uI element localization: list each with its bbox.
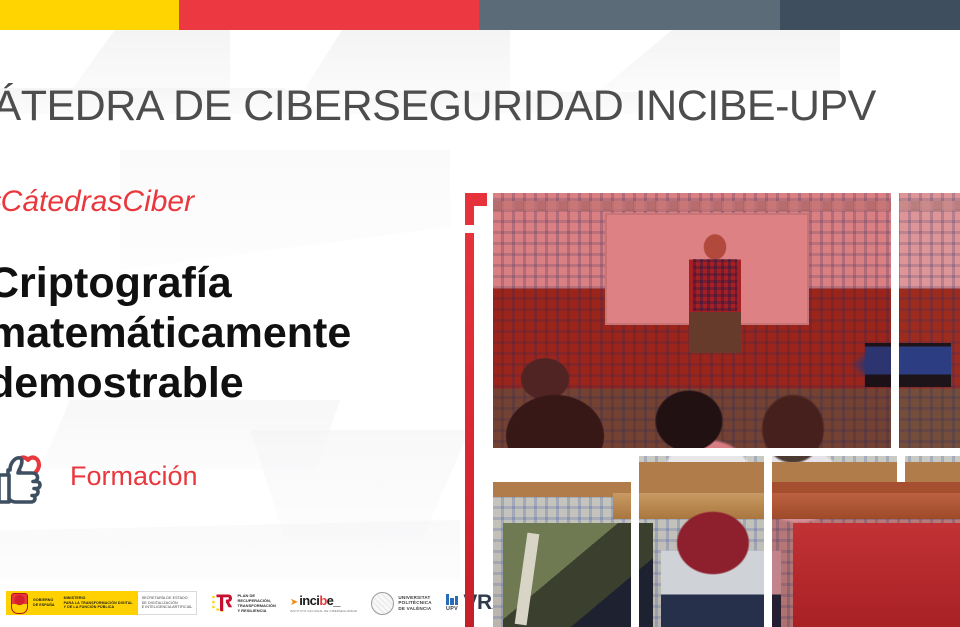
vrain-mark-icon: UPV [446, 594, 459, 612]
headline-line-2: matemáticamente [0, 308, 458, 358]
incibe-b: b [319, 593, 326, 608]
gob-line-1: GOBIERNO [33, 598, 53, 602]
headline: Criptografía matemáticamente demostrable [0, 258, 458, 408]
photo-tile [899, 193, 960, 448]
classroom-photo-grid [493, 193, 960, 627]
headline-line-1: Criptografía [0, 258, 458, 308]
vrain-bars-icon [446, 594, 459, 605]
prtr-text: PLAN DE RECUPERACIÓN, TRANSFORMACIÓN Y R… [237, 593, 275, 613]
gob-line-2: DE ESPAÑA [33, 603, 55, 607]
classroom-photo [493, 482, 631, 627]
category-label: Formación [70, 461, 198, 492]
incibe-subtitle: INSTITUTO NACIONAL DE CIBERSEGURIDAD [290, 609, 358, 613]
color-segment-yellow [0, 0, 179, 30]
top-color-bar [0, 0, 960, 30]
upv-seal-icon [371, 592, 394, 615]
classroom-photo [899, 193, 960, 448]
gob-line-6: SECRETARÍA DE ESTADO [142, 596, 188, 600]
prtr-mark-icon [211, 592, 233, 614]
photo-tile [639, 482, 764, 627]
upv-line-2: POLITÈCNICA [398, 600, 431, 605]
incibe-in: in [299, 593, 309, 608]
photo-tile [493, 193, 891, 448]
incibe-wordmark: ➤ in ci b e _ [290, 593, 340, 608]
thumbs-up-heart-icon [0, 448, 50, 504]
upv-line-3: DE VALÈNCIA [398, 606, 431, 611]
color-segment-slate [479, 0, 780, 30]
gob-secretaria-block: SECRETARÍA DE ESTADO DE DIGITALIZACIÓN E… [138, 591, 198, 615]
photo-tile [772, 482, 960, 627]
bracket-vertical [465, 193, 474, 225]
gob-line-5: Y DE LA FUNCIÓN PÚBLICA [64, 605, 115, 609]
bg-polygon [0, 520, 460, 580]
logo-gobierno-de-espana: GOBIERNO DE ESPAÑA MINISTERIO PARA LA TR… [6, 591, 197, 615]
logo-strip: GOBIERNO DE ESPAÑA MINISTERIO PARA LA TR… [6, 591, 527, 615]
red-vertical-rule [465, 233, 474, 627]
logo-incibe: ➤ in ci b e _ INSTITUTO NACIONAL DE CIBE… [290, 593, 358, 613]
secretaria-text: SECRETARÍA DE ESTADO DE DIGITALIZACIÓN E… [142, 596, 193, 610]
color-segment-red [179, 0, 479, 30]
gob-line-8: E INTELIGENCIA ARTIFICIAL [142, 605, 193, 609]
ministerio-text: MINISTERIO PARA LA TRANSFORMACIÓN DIGITA… [64, 596, 133, 610]
spain-coat-of-arms-icon [11, 593, 28, 614]
upv-university-text: UNIVERSITAT POLITÈCNICA DE VALÈNCIA [398, 595, 431, 611]
gob-line-7: DE DIGITALIZACIÓN [142, 601, 178, 605]
gob-crest-block: GOBIERNO DE ESPAÑA MINISTERIO PARA LA TR… [6, 591, 138, 615]
category-row: Formación [0, 448, 198, 504]
color-segment-dark-slate [780, 0, 960, 30]
bg-polygon [250, 430, 470, 540]
vrain-upv-label: UPV [446, 606, 458, 612]
prtr-line-4: Y RESILIENCIA [237, 608, 266, 613]
incibe-tail: _ [333, 593, 340, 608]
classroom-photo [772, 482, 960, 627]
gob-line-3: MINISTERIO [64, 596, 86, 600]
classroom-photo [639, 482, 764, 627]
page-title: CÁTEDRA DE CIBERSEGURIDAD INCIBE-UPV [0, 82, 822, 131]
photo-tile [493, 482, 631, 627]
headline-line-3: demostrable [0, 358, 458, 408]
logo-plan-recuperacion: PLAN DE RECUPERACIÓN, TRANSFORMACIÓN Y R… [211, 592, 275, 614]
red-corner-bracket [465, 193, 487, 225]
hashtag-label: #CátedrasCiber [0, 185, 194, 219]
bg-polygon [600, 30, 840, 90]
gob-text: GOBIERNO DE ESPAÑA [33, 598, 55, 607]
incibe-arrow-icon: ➤ [290, 597, 298, 608]
logo-universitat-politecnica-valencia: UNIVERSITAT POLITÈCNICA DE VALÈNCIA [371, 592, 431, 615]
classroom-photo [493, 193, 891, 448]
incibe-ci: ci [310, 593, 320, 608]
